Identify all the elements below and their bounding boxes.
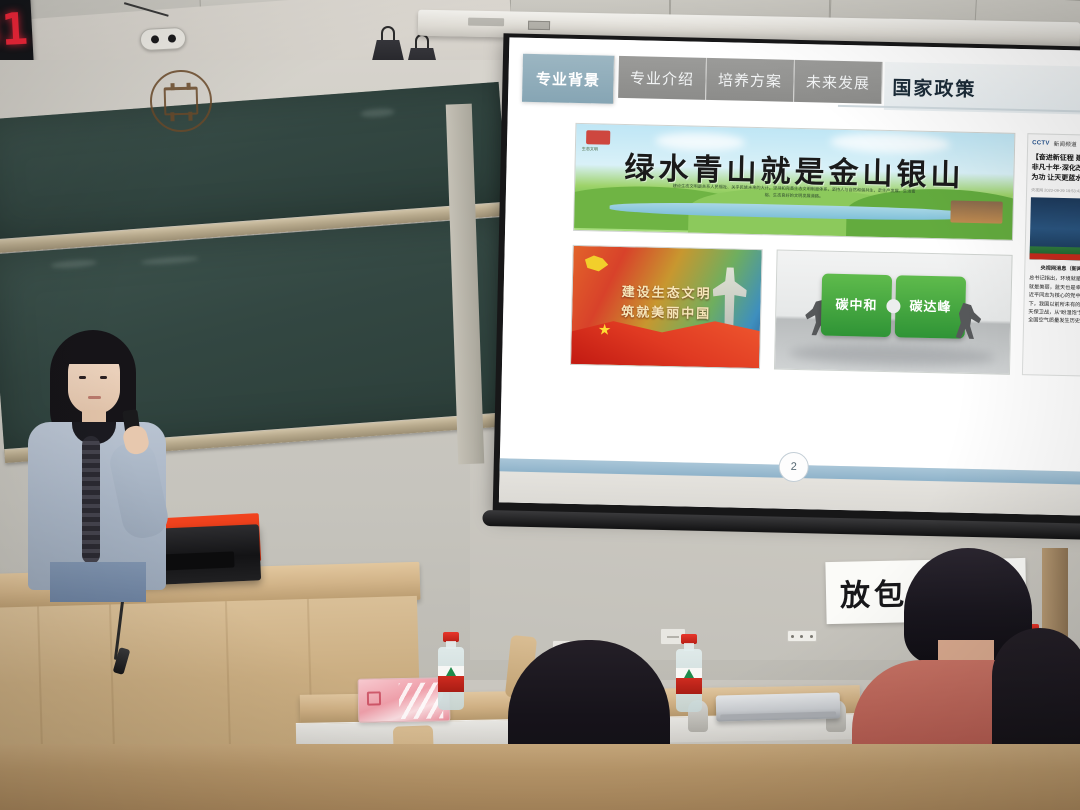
news-meta: 央视网 2022-09-29 19:53:42 (1031, 187, 1080, 195)
tab-training-plan[interactable]: 培养方案 (706, 58, 795, 102)
star-icon: ★ (598, 320, 612, 338)
roller-brand-label (468, 18, 504, 27)
classroom-floor (0, 744, 1080, 810)
tab-major-background[interactable]: 专业背景 (522, 54, 615, 104)
puzzle-piece-carbon-peak: 碳达峰 (895, 275, 966, 339)
news-article-panel: CCTV 新闻频道 【奋进新征程 建功新时代·非凡十年·深化改革】久久为功 让天… (1022, 133, 1080, 377)
tab-major-intro[interactable]: 专业介绍 (618, 56, 707, 100)
presenter-blouse-ruffle (82, 436, 100, 564)
carbon-puzzle-graphic: 碳中和 碳达峰 (821, 274, 966, 339)
wall-switch-panel[interactable] (787, 630, 817, 642)
bottle-logo-icon (446, 667, 456, 676)
news-video-thumbnail (1030, 197, 1080, 261)
card-ecology-line2: 筑就美丽中国 (572, 302, 760, 326)
presenter-speaker (20, 330, 180, 590)
hero-riverside-house (950, 200, 1002, 223)
ding-vessel-shape (164, 87, 199, 116)
card-carbon-goals: 碳中和 碳达峰 (774, 250, 1013, 375)
roller-control-box (528, 21, 550, 30)
party-emblem-icon (583, 254, 609, 273)
motion-sensor-icon (139, 27, 186, 51)
hero-banner-image: 生态文明 绿水青山就是金山银山 建设生态文明是关系人民福祉、关乎民族未来的大计。… (573, 123, 1015, 241)
news-section-label: 新闻频道 (1054, 140, 1077, 149)
cctv-logo-icon: CCTV (1032, 140, 1050, 146)
puzzle-shadow (789, 343, 995, 368)
led-room-number-display: 31 (0, 0, 34, 68)
water-bottle (438, 632, 464, 710)
presenter-bangs (62, 336, 126, 364)
tissue-brand-seal-icon (367, 691, 381, 705)
projector-screen: 专业背景 专业介绍 培养方案 未来发展 国家政策 (499, 37, 1080, 515)
presentation-slide: 专业背景 专业介绍 培养方案 未来发展 国家政策 (499, 37, 1080, 515)
tab-future-development[interactable]: 未来发展 (794, 60, 883, 104)
presenter-jeans (50, 562, 146, 602)
classroom-photo: 31 专业背景 专业介绍 (0, 0, 1080, 810)
news-channel-row: CCTV 新闻频道 (1032, 139, 1080, 149)
slide-footer: 2 (499, 458, 1080, 515)
projector-screen-frame: 专业背景 专业介绍 培养方案 未来发展 国家政策 (493, 33, 1080, 526)
led-room-number-text: 31 (0, 8, 29, 55)
laptop-hinge (720, 711, 836, 719)
card-ecology-civilization: ★ 建设生态文明 筑就美丽中国 (570, 245, 763, 369)
news-body: 央视网消息（新闻联播）： 总书记指出，环境就是民生，青山就是美丽，蓝天也是幸福。… (1028, 264, 1080, 327)
news-body-lead: 央视网消息（新闻联播）： (1029, 264, 1080, 274)
card-ecology-text: 建设生态文明 筑就美丽中国 (572, 282, 761, 326)
tissue-pack (358, 677, 451, 723)
student-laptop[interactable] (716, 692, 841, 721)
slide-tabbar: 专业背景 专业介绍 培养方案 未来发展 国家政策 (508, 53, 1080, 110)
news-headline: 【奋进新征程 建功新时代·非凡十年·深化改革】久久为功 让天更蓝水更清 (1031, 153, 1080, 185)
news-ticker-bar (1030, 253, 1080, 261)
news-body-text: 总书记指出，环境就是民生，青山就是美丽，蓝天也是幸福。在以习近平同志为核心的党中… (1028, 276, 1080, 326)
presenter-mouth (88, 396, 101, 399)
puzzle-piece-carbon-neutrality: 碳中和 (821, 274, 892, 338)
tissue-pattern (399, 682, 444, 719)
